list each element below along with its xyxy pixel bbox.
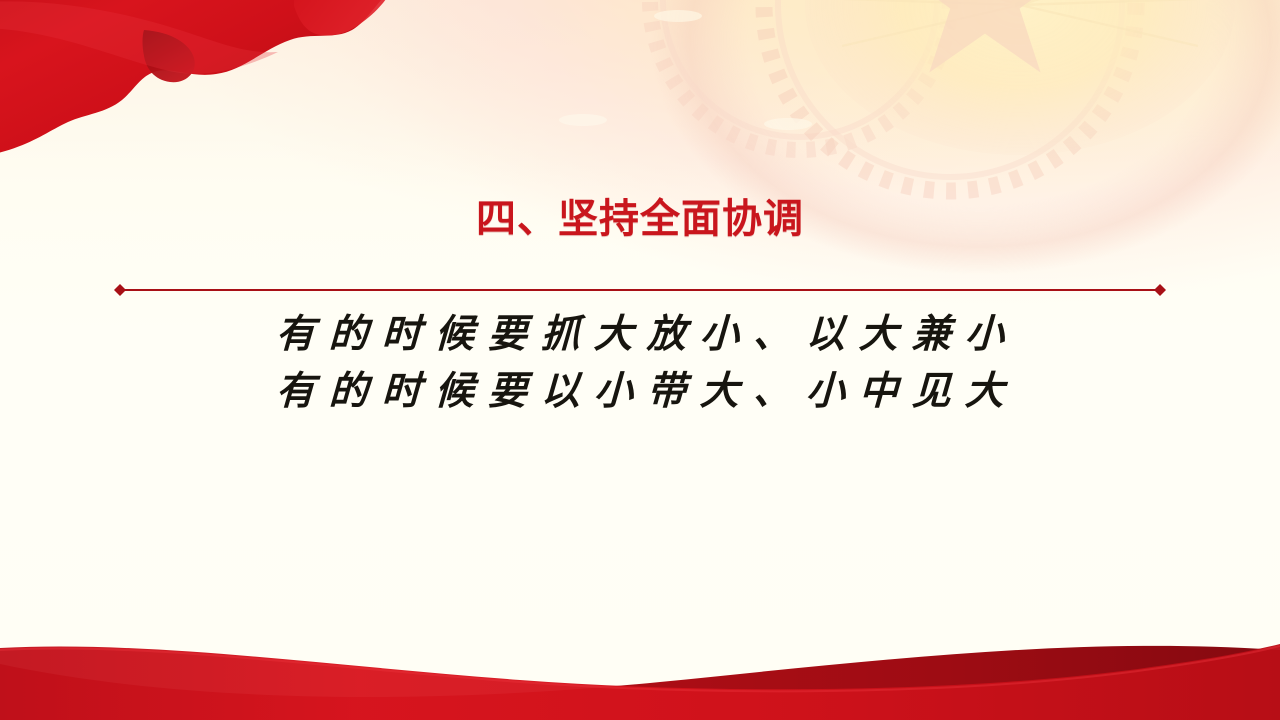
slide-canvas: 四、坚持全面协调 有的时候要抓大放小、以大兼小 有的时候要以小带大、小中见大	[0, 0, 1280, 720]
divider-left-diamond-icon	[114, 284, 126, 296]
body-line-1: 有的时候要抓大放小、以大兼小	[0, 306, 1280, 363]
divider-right-diamond-icon	[1154, 284, 1166, 296]
section-divider	[110, 283, 1170, 297]
red-wave-ribbon	[0, 610, 1280, 720]
body-text-block: 有的时候要抓大放小、以大兼小 有的时候要以小带大、小中见大	[0, 306, 1280, 420]
flag-tail	[294, 0, 394, 36]
body-line-2: 有的时候要以小带大、小中见大	[0, 363, 1280, 420]
page-title: 四、坚持全面协调	[0, 196, 1280, 243]
party-emblem-watermark	[550, 0, 1280, 310]
red-flag-ribbon	[0, 0, 464, 206]
title-block: 四、坚持全面协调	[0, 196, 1280, 243]
